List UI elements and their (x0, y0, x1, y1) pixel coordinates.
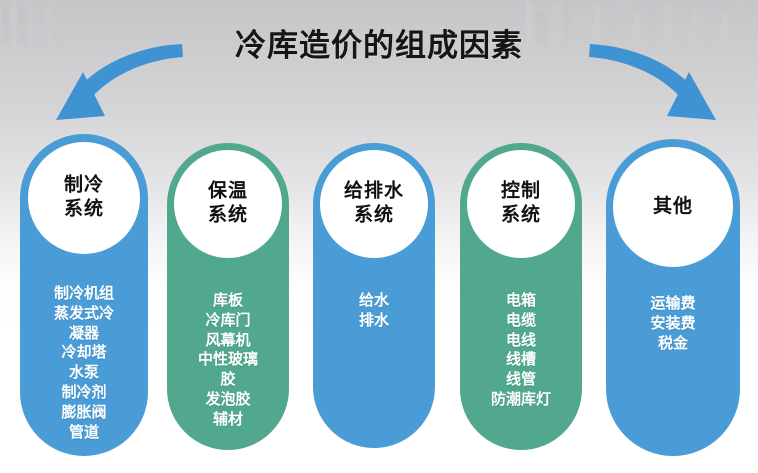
pill-head-circle: 制冷 系统 (28, 142, 140, 254)
pill-head-circle: 给排水 系统 (320, 150, 428, 258)
category-items: 制冷机组 蒸发式冷 凝器 冷却塔 水泵 制冷剂 膨胀阀 管道 (26, 284, 142, 442)
category-column-control[interactable]: 控制 系统 电箱 电缆 电线 线槽 线管 防潮库灯 (460, 143, 582, 450)
page-title: 冷库造价的组成因素 (0, 20, 758, 65)
pill-head-circle: 其他 (613, 147, 733, 267)
pill-head-circle: 保温 系统 (174, 150, 282, 258)
category-title: 其他 (613, 195, 733, 219)
category-items: 库板 冷库门 风幕机 中性玻璃 胶 发泡胶 辅材 (173, 291, 283, 430)
category-column-water-supply-drainage[interactable]: 给排水 系统 给水 排水 (313, 143, 435, 448)
pill-head-circle: 控制 系统 (467, 150, 575, 258)
category-title: 保温 系统 (174, 180, 282, 229)
category-title: 制冷 系统 (28, 174, 140, 223)
category-items: 运输费 安装费 税金 (612, 294, 734, 353)
category-items: 电箱 电缆 电线 线槽 线管 防潮库灯 (466, 291, 576, 410)
category-column-insulation[interactable]: 保温 系统 库板 冷库门 风幕机 中性玻璃 胶 发泡胶 辅材 (167, 143, 289, 450)
category-column-other[interactable]: 其他 运输费 安装费 税金 (606, 139, 740, 456)
slide-canvas: 冷库造价的组成因素 制冷 系统 制冷机组 蒸发式冷 凝器 冷却塔 水泵 制冷剂 … (0, 0, 758, 473)
category-title: 给排水 系统 (320, 180, 428, 229)
category-title: 控制 系统 (467, 180, 575, 229)
category-column-refrigeration[interactable]: 制冷 系统 制冷机组 蒸发式冷 凝器 冷却塔 水泵 制冷剂 膨胀阀 管道 (20, 134, 148, 456)
category-items: 给水 排水 (319, 291, 429, 331)
